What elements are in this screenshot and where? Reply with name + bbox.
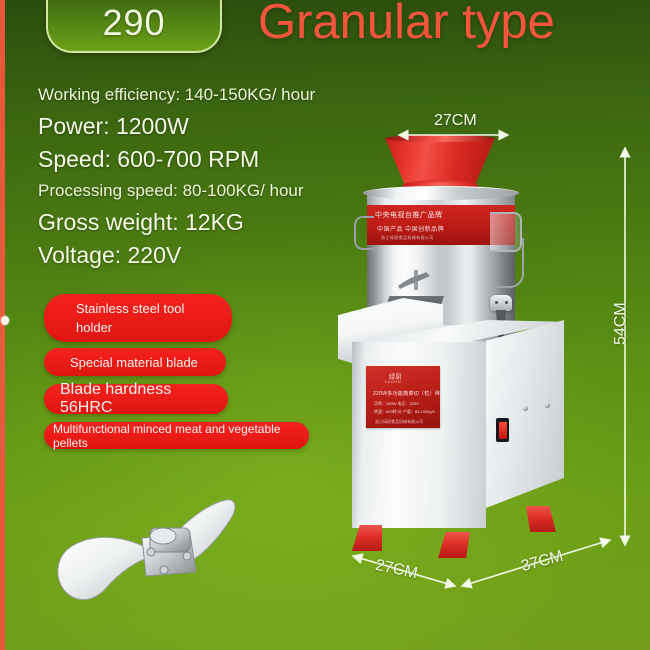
spec-power: Power: 1200W: [38, 110, 358, 143]
machine-foot-left: [352, 525, 382, 551]
feature-pill-label: Stainless steel tool holder: [76, 299, 222, 337]
feature-pill-label: Special material blade: [70, 355, 198, 370]
page-title: Granular type: [258, 0, 555, 47]
feature-pill-list: Stainless steel tool holder Special mate…: [44, 294, 309, 449]
panel-screw-icon: [545, 403, 550, 408]
dimension-label-front-width: 27CM: [374, 557, 419, 583]
feature-pill-blade-material: Special material blade: [44, 348, 226, 376]
product-infographic: 290 Granular type Working efficiency: 14…: [0, 0, 650, 650]
nameplate-row-2: 转速：600转/分 产量：80-100kg/h: [374, 409, 435, 415]
cabinet-side-panel: [486, 320, 564, 508]
inner-blade-icon: [396, 268, 438, 292]
latch-screw-icon: [505, 301, 508, 304]
model-number-text: 290: [102, 5, 165, 41]
nameplate-title: 220W多功能蔬菜切（粒）碎机: [373, 390, 440, 397]
spec-list: Working efficiency: 140-150KG/ hour Powe…: [38, 80, 358, 272]
nameplate-brand-pinyin: LVCHU: [385, 379, 401, 384]
feature-pill-blade-hardness: Blade hardness 56HRC: [44, 384, 228, 414]
power-switch[interactable]: [496, 418, 509, 442]
spec-working-efficiency: Working efficiency: 140-150KG/ hour: [38, 80, 358, 110]
machine-foot-right: [526, 506, 556, 532]
bowl-label-line-3: 浙江绿厨食品机械有限公司: [381, 235, 434, 241]
nameplate-footer: 浙江绿厨食品机械有限公司: [375, 419, 423, 425]
left-red-rail: [0, 0, 5, 650]
model-number-badge: 290: [46, 0, 222, 53]
dimension-label-top-width: 27CM: [434, 112, 477, 130]
dimension-label-height: 54CM: [612, 302, 630, 345]
bowl-label-line-1: 中央电视台推广品牌: [375, 210, 443, 220]
machine-photo: 中央电视台推广品牌 中国产品 中国创新品牌 浙江绿厨食品机械有限公司 绿厨 LV…: [330, 120, 580, 550]
panel-screw-icon: [523, 406, 528, 411]
feature-pill-tool-holder: Stainless steel tool holder: [44, 294, 232, 342]
spec-speed: Speed: 600-700 RPM: [38, 143, 358, 176]
safety-latch: [490, 295, 512, 311]
spec-gross-weight: Gross weight: 12KG: [38, 206, 358, 239]
spec-nameplate: 绿厨 LVCHU 220W多功能蔬菜切（粒）碎机 功率：350W 电压：220V…: [366, 366, 440, 428]
machine-foot-middle: [438, 532, 470, 558]
spec-processing-speed: Processing speed: 80-100KG/ hour: [38, 176, 358, 206]
cutting-blade-photo: [50, 490, 280, 620]
feature-pill-label: Multifunctional minced meat and vegetabl…: [53, 422, 301, 450]
dimension-label-depth: 37CM: [519, 548, 565, 576]
hopper-rim: [385, 135, 495, 142]
bowl-rim: [363, 186, 519, 200]
feature-pill-multifunctional: Multifunctional minced meat and vegetabl…: [44, 422, 309, 449]
rail-dot-icon: [1, 316, 9, 325]
latch-screw-icon: [495, 301, 498, 304]
bowl-clamp-arm: [496, 238, 524, 288]
feature-pill-label: Blade hardness 56HRC: [60, 381, 220, 417]
spec-voltage: Voltage: 220V: [38, 239, 358, 272]
bowl-label-line-2: 中国产品 中国创新品牌: [377, 224, 444, 233]
nameplate-row-1: 功率：350W 电压：220V: [374, 401, 419, 407]
bowl-handle-left: [354, 216, 374, 250]
